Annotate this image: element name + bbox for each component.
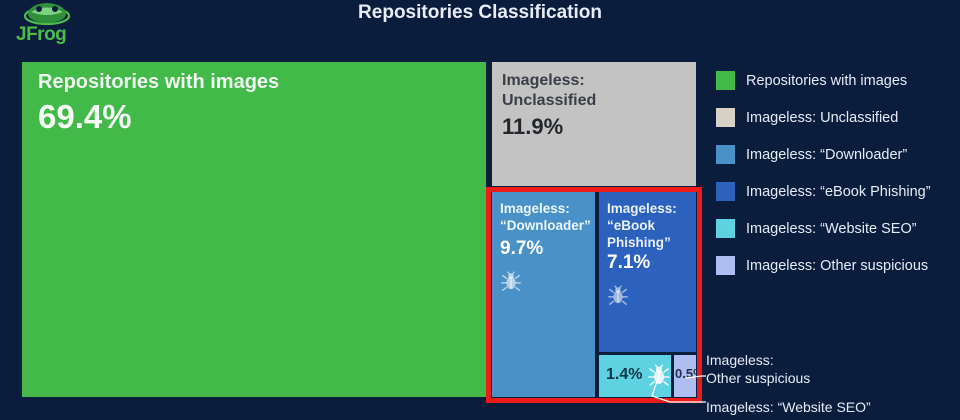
legend-swatch-icon — [716, 256, 735, 275]
legend-swatch-icon — [716, 71, 735, 90]
jfrog-logo-text: JFrog — [16, 24, 66, 46]
legend-swatch-icon — [716, 182, 735, 201]
tile-label: Imageless: Unclassified — [502, 71, 596, 111]
callout-website-seo: Imageless: “Website SEO” — [706, 398, 871, 416]
legend-item-2[interactable]: Imageless: “Downloader” — [716, 136, 956, 173]
treemap-tile-imageless-unclassified[interactable]: Imageless: Unclassified 11.9% — [492, 62, 696, 186]
tile-value: 69.4% — [38, 98, 132, 136]
tile-value: 11.9% — [502, 114, 563, 140]
treemap-tile-imageless-downloader[interactable]: Imageless: “Downloader” 9.7% — [492, 192, 595, 397]
legend-label: Imageless: “eBook Phishing” — [746, 184, 931, 200]
legend-swatch-icon — [716, 219, 735, 238]
legend-item-5[interactable]: Imageless: Other suspicious — [716, 247, 956, 284]
treemap-tile-imageless-other-suspicious[interactable]: 0.5% — [674, 355, 696, 397]
legend: Repositories with images Imageless: Uncl… — [716, 62, 956, 284]
legend-item-0[interactable]: Repositories with images — [716, 62, 956, 99]
legend-swatch-icon — [716, 145, 735, 164]
chart-canvas: JFrog JFrog JFrog Repositories Classific… — [0, 0, 960, 420]
legend-label: Imageless: “Website SEO” — [746, 221, 917, 237]
bug-icon — [500, 270, 522, 292]
legend-label: Imageless: Unclassified — [746, 110, 898, 126]
legend-swatch-icon — [716, 108, 735, 127]
treemap-tile-imageless-website-seo[interactable]: 1.4% — [599, 355, 671, 397]
tile-label: Imageless: “Downloader” — [500, 200, 591, 234]
bug-icon — [607, 284, 629, 306]
page-title: Repositories Classification — [0, 2, 960, 24]
tile-value: 0.5% — [675, 366, 696, 381]
legend-item-3[interactable]: Imageless: “eBook Phishing” — [716, 173, 956, 210]
legend-item-1[interactable]: Imageless: Unclassified — [716, 99, 956, 136]
tile-label: Imageless: “eBook Phishing” — [607, 200, 677, 251]
tile-value: 7.1% — [607, 252, 650, 274]
legend-label: Imageless: Other suspicious — [746, 258, 928, 274]
bug-icon — [647, 363, 671, 387]
legend-label: Imageless: “Downloader” — [746, 147, 907, 163]
callout-other-suspicious: Imageless: Other suspicious — [706, 351, 810, 387]
treemap-tile-imageless-ebook-phishing[interactable]: Imageless: “eBook Phishing” 7.1% — [599, 192, 696, 352]
tile-value: 1.4% — [606, 366, 642, 384]
legend-item-4[interactable]: Imageless: “Website SEO” — [716, 210, 956, 247]
legend-label: Repositories with images — [746, 73, 907, 89]
treemap-tile-repositories-with-images[interactable]: Repositories with images 69.4% — [22, 62, 486, 397]
tile-value: 9.7% — [500, 238, 543, 260]
tile-label: Repositories with images — [38, 72, 279, 93]
